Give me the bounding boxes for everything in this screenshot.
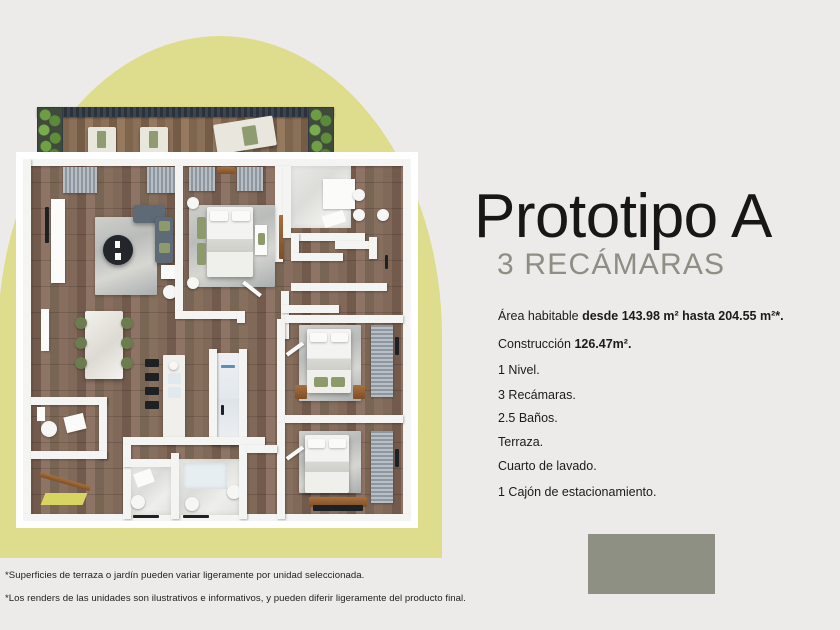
dining-chair-6: [121, 357, 133, 369]
blind-master-1: [189, 167, 215, 191]
sofa-cushion-1: [159, 221, 170, 231]
wall-bottom: [23, 514, 411, 521]
wall-hb-left: [123, 445, 131, 519]
wall-top: [23, 159, 411, 166]
dining-window-panel: [41, 309, 49, 351]
halfbath-toilet: [131, 495, 145, 509]
dining-chair-5: [121, 337, 133, 349]
blind-master-2: [237, 167, 263, 191]
tv-panel: [45, 207, 49, 243]
master-pillow-1: [210, 211, 228, 221]
wall-hb-top: [123, 459, 177, 467]
wall-right: [403, 159, 411, 521]
fridge-handle-upper: [221, 365, 235, 368]
dining-chair-4: [121, 317, 133, 329]
spec-bedrooms: 3 Recámaras.: [498, 389, 828, 402]
spec-area: Área habitable desde 143.98 m² hasta 204…: [498, 310, 828, 323]
washer: [41, 421, 57, 437]
bed3-bench-shadow: [313, 505, 363, 511]
closet-handle: [385, 255, 388, 269]
wall-closet-bottom: [291, 253, 343, 261]
bed3-window-handle: [395, 449, 399, 467]
spec-bathrooms: 2.5 Baños.: [498, 412, 828, 425]
wall-bed2-left: [277, 319, 285, 423]
spec-terrace: Terraza.: [498, 436, 828, 449]
blind-bed3: [371, 431, 393, 503]
wall-kitchen-right: [239, 349, 247, 445]
bed2-nightstand-2: [353, 385, 365, 399]
wall-bed2-top: [285, 315, 403, 323]
lounge-chair-1-pad: [97, 131, 106, 148]
shower-enclosure: [323, 179, 355, 209]
wall-laundry-top: [31, 397, 107, 405]
blind-bed2: [371, 325, 393, 397]
bed2-cushion-1: [314, 377, 328, 387]
bathroom2-toilet: [185, 497, 199, 511]
dining-chair-3: [75, 357, 87, 369]
wall-master-bottom-b: [237, 311, 245, 323]
spec-levels: 1 Nivel.: [498, 364, 828, 377]
dining-chair-1: [75, 317, 87, 329]
spec-parking: 1 Cajón de estacionamiento.: [498, 486, 828, 499]
sofa-cushion-2: [159, 243, 170, 253]
spec-construction-label: Construcción: [498, 337, 574, 351]
wall-master-bottom-a: [175, 311, 241, 319]
footnote-renders: *Los renders de las unidades son ilustra…: [5, 593, 466, 604]
master-window-header: [217, 167, 235, 174]
floorplan-canvas: [23, 159, 411, 521]
bed2-pillow-2: [331, 333, 348, 342]
spec-area-value: desde 143.98 m² hasta 204.55 m²*.: [582, 309, 784, 323]
wall-bath-bottom: [291, 233, 365, 241]
kitchen-stool-2: [145, 373, 159, 381]
master-side-pad: [258, 233, 265, 245]
prototype-floorplan-page: Prototipo A 3 RECÁMARAS Área habitable d…: [0, 0, 840, 630]
wall-master-left: [175, 166, 183, 318]
kitchen-stool-4: [145, 401, 159, 409]
spec-laundry: Cuarto de lavado.: [498, 460, 828, 473]
bathroom2-threshold: [183, 515, 209, 518]
kitchen-sink-2: [168, 387, 181, 398]
wall-kitchen-left: [209, 349, 217, 445]
toilet: [377, 209, 389, 221]
master-pillow-2: [232, 211, 250, 221]
bed3-pillow-1: [308, 439, 325, 448]
bed2-window-handle: [395, 337, 399, 355]
spec-construction-value: 126.47m².: [574, 337, 631, 351]
closet-shelf-a: [335, 241, 371, 249]
kitchen-sink-1: [168, 373, 181, 384]
wall-left: [23, 159, 31, 521]
coffee-table: [103, 235, 133, 265]
kitchen-bowl: [169, 361, 178, 370]
lounge-chair-2-pad: [149, 131, 158, 148]
lounge-daybed-pad: [242, 125, 259, 146]
wall-kitchen-bottom: [123, 437, 265, 445]
wall-bath2-right: [239, 445, 247, 519]
master-nightstand-2: [187, 277, 199, 289]
blind-living-1: [63, 167, 97, 193]
bathroom2-shower: [183, 463, 227, 489]
page-subtitle: 3 RECÁMARAS: [497, 250, 725, 280]
page-title: Prototipo A: [474, 186, 772, 248]
kitchen-stool-1: [145, 359, 159, 367]
vanity-basin-1: [353, 189, 365, 201]
wall-laundry-right: [99, 397, 107, 459]
vanity-basin-2: [353, 209, 365, 221]
wall-bed3-left: [277, 423, 285, 519]
living-media-wall: [51, 199, 65, 283]
bed2-cushion-2: [331, 377, 345, 387]
bed3-pillow-2: [329, 439, 346, 448]
master-bench-cushion-2: [197, 243, 206, 265]
coffee-table-item-1: [115, 241, 120, 248]
bed2-pillow-1: [310, 333, 327, 342]
wall-hall-top: [281, 305, 339, 313]
dining-chair-2: [75, 337, 87, 349]
wall-bed2-bottom: [285, 415, 403, 423]
wall-hb-right: [171, 453, 179, 519]
spec-area-label: Área habitable: [498, 309, 582, 323]
wall-laundry-bottom: [31, 451, 107, 459]
closet-shelf-b: [369, 237, 377, 259]
master-nightstand-1: [187, 197, 199, 209]
wall-bath-left: [283, 166, 291, 238]
master-bench-cushion-1: [197, 217, 206, 239]
color-swatch: [588, 534, 715, 594]
specs-list: Área habitable desde 143.98 m² hasta 204…: [498, 310, 828, 498]
dining-table: [85, 311, 123, 379]
terrace-railing: [37, 107, 334, 117]
bed2-nightstand-1: [295, 385, 307, 399]
kitchen-stool-3: [145, 387, 159, 395]
laundry-shelf: [37, 407, 45, 421]
coffee-table-item-2: [115, 253, 121, 260]
spec-construction: Construcción 126.47m².: [498, 338, 828, 351]
fridge-handle-lower: [221, 405, 224, 415]
entry-mat: [41, 493, 88, 505]
footnote-surfaces: *Superficies de terraza o jardín pueden …: [5, 570, 364, 581]
floorplan-render[interactable]: [16, 152, 418, 528]
wall-corridor-bottom: [247, 445, 277, 453]
wall-hall-divider: [291, 283, 387, 291]
halfbath-threshold: [133, 515, 159, 518]
